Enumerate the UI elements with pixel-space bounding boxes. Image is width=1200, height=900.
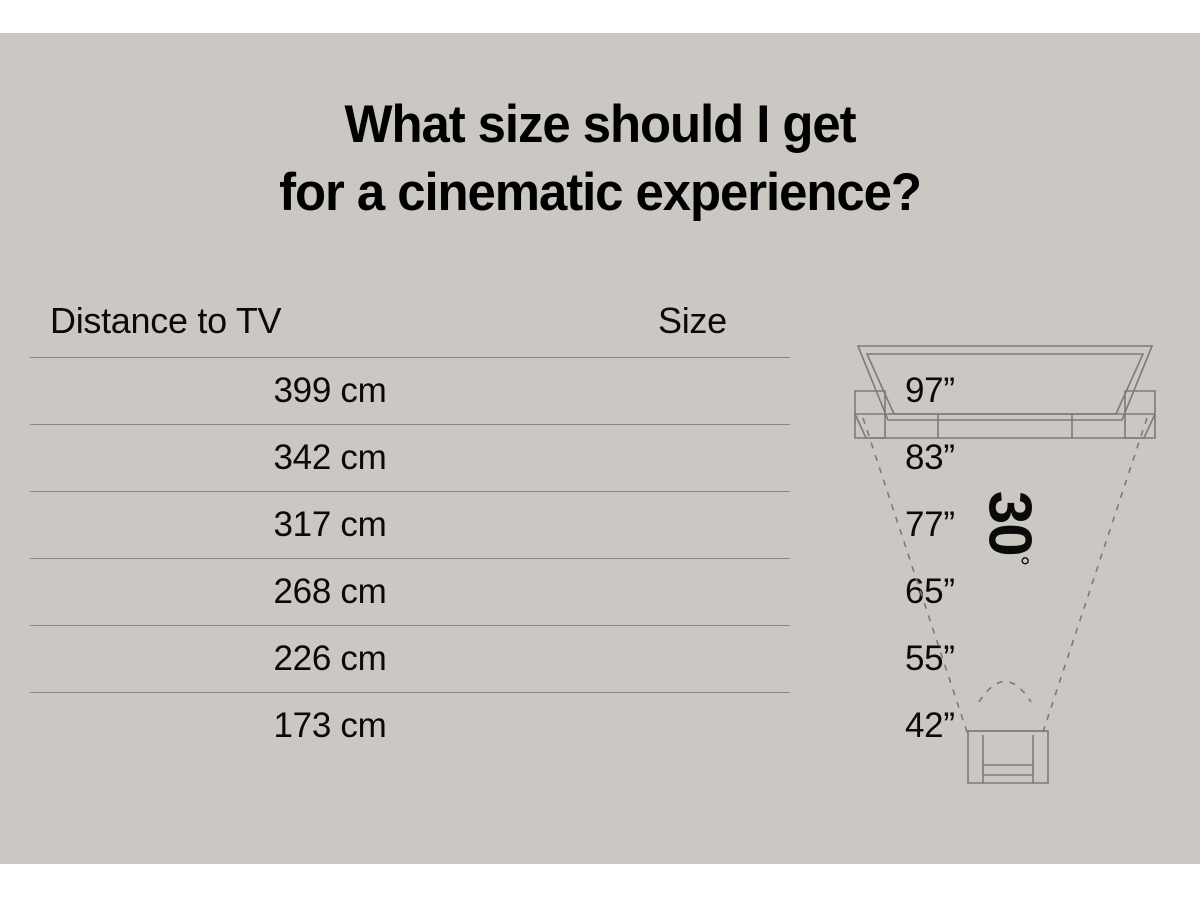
size-guide-table: Distance to TV Size 399 cm 97” 342 cm 83… <box>30 285 790 759</box>
content-panel: What size should I get for a cinematic e… <box>0 33 1200 864</box>
cell-distance: 317 cm <box>30 505 905 545</box>
cell-distance: 268 cm <box>30 572 905 612</box>
page-title-line-1: What size should I get <box>24 91 1176 159</box>
table-row: 399 cm 97” <box>30 357 790 424</box>
tv-screen-outer-icon <box>858 346 1152 420</box>
angle-arc-icon <box>979 682 1031 703</box>
cell-distance: 342 cm <box>30 438 905 478</box>
table-row: 317 cm 77” <box>30 491 790 558</box>
table-row: 173 cm 42” <box>30 692 790 759</box>
table-header-row: Distance to TV Size <box>30 285 790 357</box>
tv-console-icon <box>855 391 1155 438</box>
cell-distance: 399 cm <box>30 371 905 411</box>
cell-distance: 173 cm <box>30 706 905 746</box>
column-header-size: Size <box>650 300 790 342</box>
cell-distance: 226 cm <box>30 639 905 679</box>
sightline-left-icon <box>863 418 968 735</box>
viewing-angle-diagram <box>820 288 1190 788</box>
sofa-icon <box>968 731 1048 783</box>
screenshot-root: What size should I get for a cinematic e… <box>0 0 1200 900</box>
page-title-line-2: for a cinematic experience? <box>24 159 1176 227</box>
tv-screen-inner-icon <box>867 354 1143 414</box>
table-row: 226 cm 55” <box>30 625 790 692</box>
sightline-right-icon <box>1042 418 1147 735</box>
page-title: What size should I get for a cinematic e… <box>24 91 1176 227</box>
column-header-distance: Distance to TV <box>30 300 650 342</box>
table-row: 268 cm 65” <box>30 558 790 625</box>
table-row: 342 cm 83” <box>30 424 790 491</box>
